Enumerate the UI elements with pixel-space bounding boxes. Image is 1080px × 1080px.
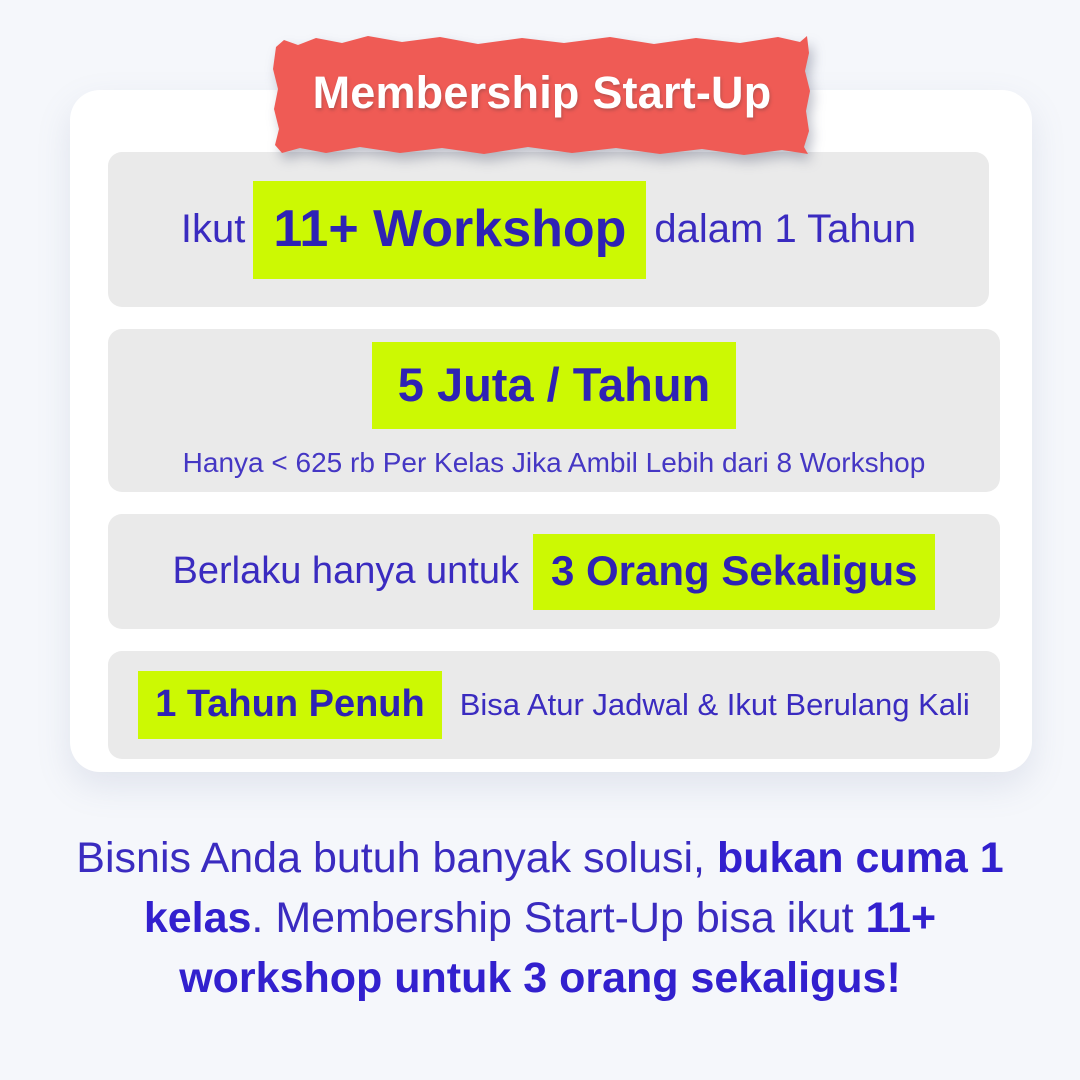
row1-prefix: Ikut — [181, 207, 245, 252]
outro-part1: Bisnis Anda butuh banyak solusi, — [76, 834, 717, 882]
header-banner: Membership Start-Up — [272, 33, 812, 157]
benefit-row-duration: 1 Tahun Penuh Bisa Atur Jadwal & Ikut Be… — [108, 651, 1000, 759]
row4-highlight: 1 Tahun Penuh — [138, 671, 442, 739]
benefit-rows: Ikut 11+ Workshop dalam 1 Tahun 5 Juta /… — [108, 152, 1000, 759]
row2-highlight: 5 Juta / Tahun — [372, 342, 737, 429]
row1-highlight: 11+ Workshop — [253, 181, 646, 279]
row2-subtext: Hanya < 625 rb Per Kelas Jika Ambil Lebi… — [183, 447, 926, 479]
benefit-row-seats: Berlaku hanya untuk 3 Orang Sekaligus — [108, 514, 1000, 629]
benefit-row-price: 5 Juta / Tahun Hanya < 625 rb Per Kelas … — [108, 329, 1000, 492]
banner-title: Membership Start-Up — [272, 33, 812, 157]
row3-highlight: 3 Orang Sekaligus — [533, 534, 935, 610]
poster-root: Membership Start-Up Ikut 11+ Workshop da… — [0, 0, 1080, 1080]
row4-suffix: Bisa Atur Jadwal & Ikut Berulang Kali — [460, 687, 970, 723]
row1-suffix: dalam 1 Tahun — [654, 207, 916, 252]
row3-prefix: Berlaku hanya untuk — [173, 550, 519, 593]
benefit-row-workshop-count: Ikut 11+ Workshop dalam 1 Tahun — [108, 152, 989, 307]
outro-paragraph: Bisnis Anda butuh banyak solusi, bukan c… — [50, 828, 1030, 1008]
outro-part2: . Membership Start-Up bisa ikut — [251, 894, 865, 942]
